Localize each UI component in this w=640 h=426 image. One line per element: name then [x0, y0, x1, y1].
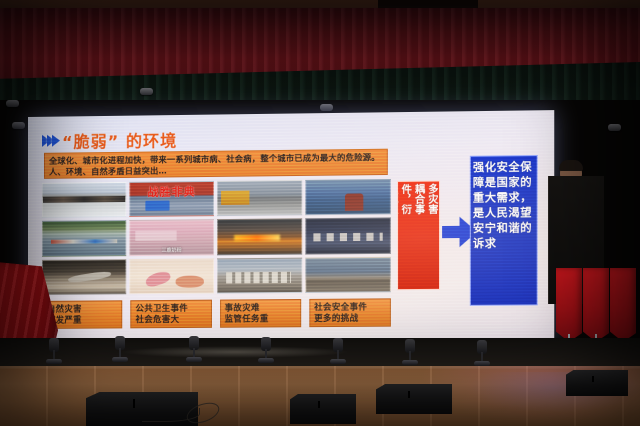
label-line-2: 监管任务重 [225, 313, 296, 325]
collage-photo-flooded-village [42, 220, 126, 256]
collage-photo-sars-epidemic-headline: 战胜非典 [129, 181, 214, 217]
ceiling-spotlight-icon [12, 122, 25, 129]
label-line-2: 更多的挑战 [314, 313, 386, 325]
ceiling-spotlight-icon [608, 124, 621, 131]
label-social-security: 社会安全事件 更多的挑战 [309, 298, 391, 327]
stage-uplight-icon [258, 337, 274, 363]
slide-title: “脆弱” 的环境 [62, 127, 177, 152]
red-panel-column: 耦合事 [411, 184, 424, 287]
collage-photo-sanlu-milk-powder-scandal: 三鹿奶粉 [129, 219, 214, 255]
stage-uplight-icon [330, 338, 346, 364]
slide-title-row: “脆弱” 的环境 [42, 127, 177, 153]
ceiling-spotlight-icon [6, 100, 19, 107]
label-line-2: 越发严重 [47, 314, 117, 326]
collage-photo-dead-livestock-in-river [42, 259, 126, 295]
ceiling-spotlight-icon [140, 88, 153, 95]
ceiling-spotlight-icon [320, 104, 333, 111]
collage-photo-urban-flood-rescue [305, 179, 391, 216]
blue-panel-text: 强化安全保障是国家的重大需求，是人民渴望安宁和谐的诉求 [473, 159, 535, 251]
red-callout-panel: 多灾害耦合事件，衍生或次生事件，管理复杂、比重增加 [397, 180, 440, 290]
red-flag [583, 268, 609, 342]
collage-photo-industrial-fire [217, 219, 302, 255]
slide-lead-paragraph: 全球化、城市化进程加快，带来一系列城市病、社会病，整个城市已成为最大的危险源。人… [49, 152, 383, 178]
slide-lead-box: 全球化、城市化进程加快，带来一系列城市病、社会病，整个城市已成为最大的危险源。人… [44, 149, 388, 179]
stage-uplight-icon [402, 339, 418, 365]
stage-floor-monitor [376, 384, 452, 414]
stage-floor-monitor [566, 370, 628, 396]
label-accident-disaster: 事故灾难 监管任务重 [220, 299, 301, 328]
sars-headline-text: 战胜非典 [130, 183, 213, 200]
collage-photo-earthquake-ruins [217, 257, 302, 293]
stage-apron-highlight [120, 346, 350, 358]
collage-photo-night-crowd-incident [305, 218, 391, 254]
projection-screen: “脆弱” 的环境 全球化、城市化进程加快，带来一系列城市病、社会病，整个城市已成… [28, 110, 554, 343]
red-flag [610, 268, 636, 342]
red-panel-column: 多灾害 [425, 184, 438, 287]
stage-uplight-icon [474, 340, 490, 366]
milk-photo-caption: 三鹿奶粉 [130, 246, 213, 254]
red-panel-column: 件，衍 [398, 184, 411, 287]
label-public-health: 公共卫生事件 社会危害大 [131, 300, 212, 329]
double-chevron-icon [42, 135, 57, 147]
stage-uplight-icon [46, 338, 62, 364]
presentation-slide: “脆弱” 的环境 全球化、城市化进程加快，带来一系列城市病、社会病，整个城市已成… [28, 110, 554, 343]
orange-label-row: 自然灾害 越发严重 公共卫生事件 社会危害大 事故灾难 监管任务重 社会安全事件… [42, 298, 391, 329]
stage-uplight-icon [112, 336, 128, 362]
collage-photo-snow-disaster-road [42, 182, 126, 218]
blue-callout-panel: 强化安全保障是国家的重大需求，是人民渴望安宁和谐的诉求 [470, 155, 538, 306]
label-line-1: 事故灾难 [225, 302, 296, 314]
label-line-1: 自然灾害 [47, 303, 117, 315]
photo-collage: 战胜非典 三鹿奶粉 [42, 179, 391, 295]
label-line-1: 公共卫生事件 [136, 302, 207, 314]
collage-photo-swine-disease-cartoon [129, 258, 214, 294]
collage-photo-construction-site-banner [305, 257, 391, 293]
stage-uplight-icon [186, 336, 202, 362]
red-flag [556, 268, 582, 342]
auditorium-photo: “脆弱” 的环境 全球化、城市化进程加快，带来一系列城市病、社会病，整个城市已成… [0, 0, 640, 426]
collage-photo-bus-highway-crash [217, 180, 302, 216]
label-line-2: 社会危害大 [136, 314, 207, 326]
speaker-glasses [561, 170, 581, 174]
label-line-1: 社会安全事件 [314, 301, 386, 313]
stage-floor-monitor [290, 394, 356, 424]
